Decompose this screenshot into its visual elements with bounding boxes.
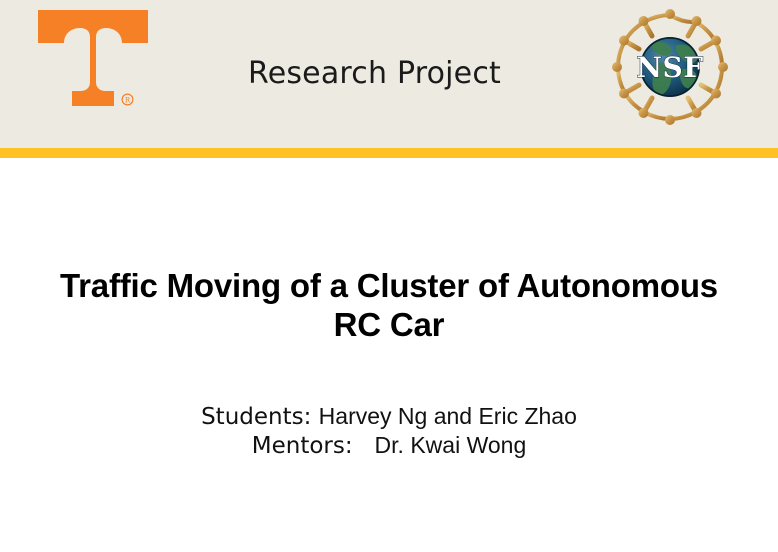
slide-title-line-2: RC Car bbox=[0, 305, 778, 344]
students-label: Students: bbox=[201, 404, 311, 430]
presentation-slide: R Research Project bbox=[0, 0, 778, 552]
mentors-names: Dr. Kwai Wong bbox=[375, 432, 527, 458]
ut-power-t-logo bbox=[38, 10, 148, 106]
nsf-logo: NSF bbox=[611, 7, 729, 127]
header-divider-rule bbox=[0, 148, 778, 158]
slide-main-title: Traffic Moving of a Cluster of Autonomou… bbox=[0, 266, 778, 344]
students-line: Students: Harvey Ng and Eric Zhao bbox=[0, 402, 778, 431]
mentors-line: Mentors: Dr. Kwai Wong bbox=[0, 431, 778, 460]
nsf-wordmark: NSF bbox=[636, 51, 703, 84]
header-title: Research Project bbox=[248, 56, 501, 91]
registered-trademark-icon: R bbox=[121, 93, 134, 106]
slide-byline: Students: Harvey Ng and Eric Zhao Mentor… bbox=[0, 402, 778, 460]
mentors-label: Mentors: bbox=[252, 433, 353, 459]
slide-title-line-1: Traffic Moving of a Cluster of Autonomou… bbox=[0, 266, 778, 305]
svg-text:R: R bbox=[125, 96, 131, 104]
students-names: Harvey Ng and Eric Zhao bbox=[319, 403, 577, 429]
